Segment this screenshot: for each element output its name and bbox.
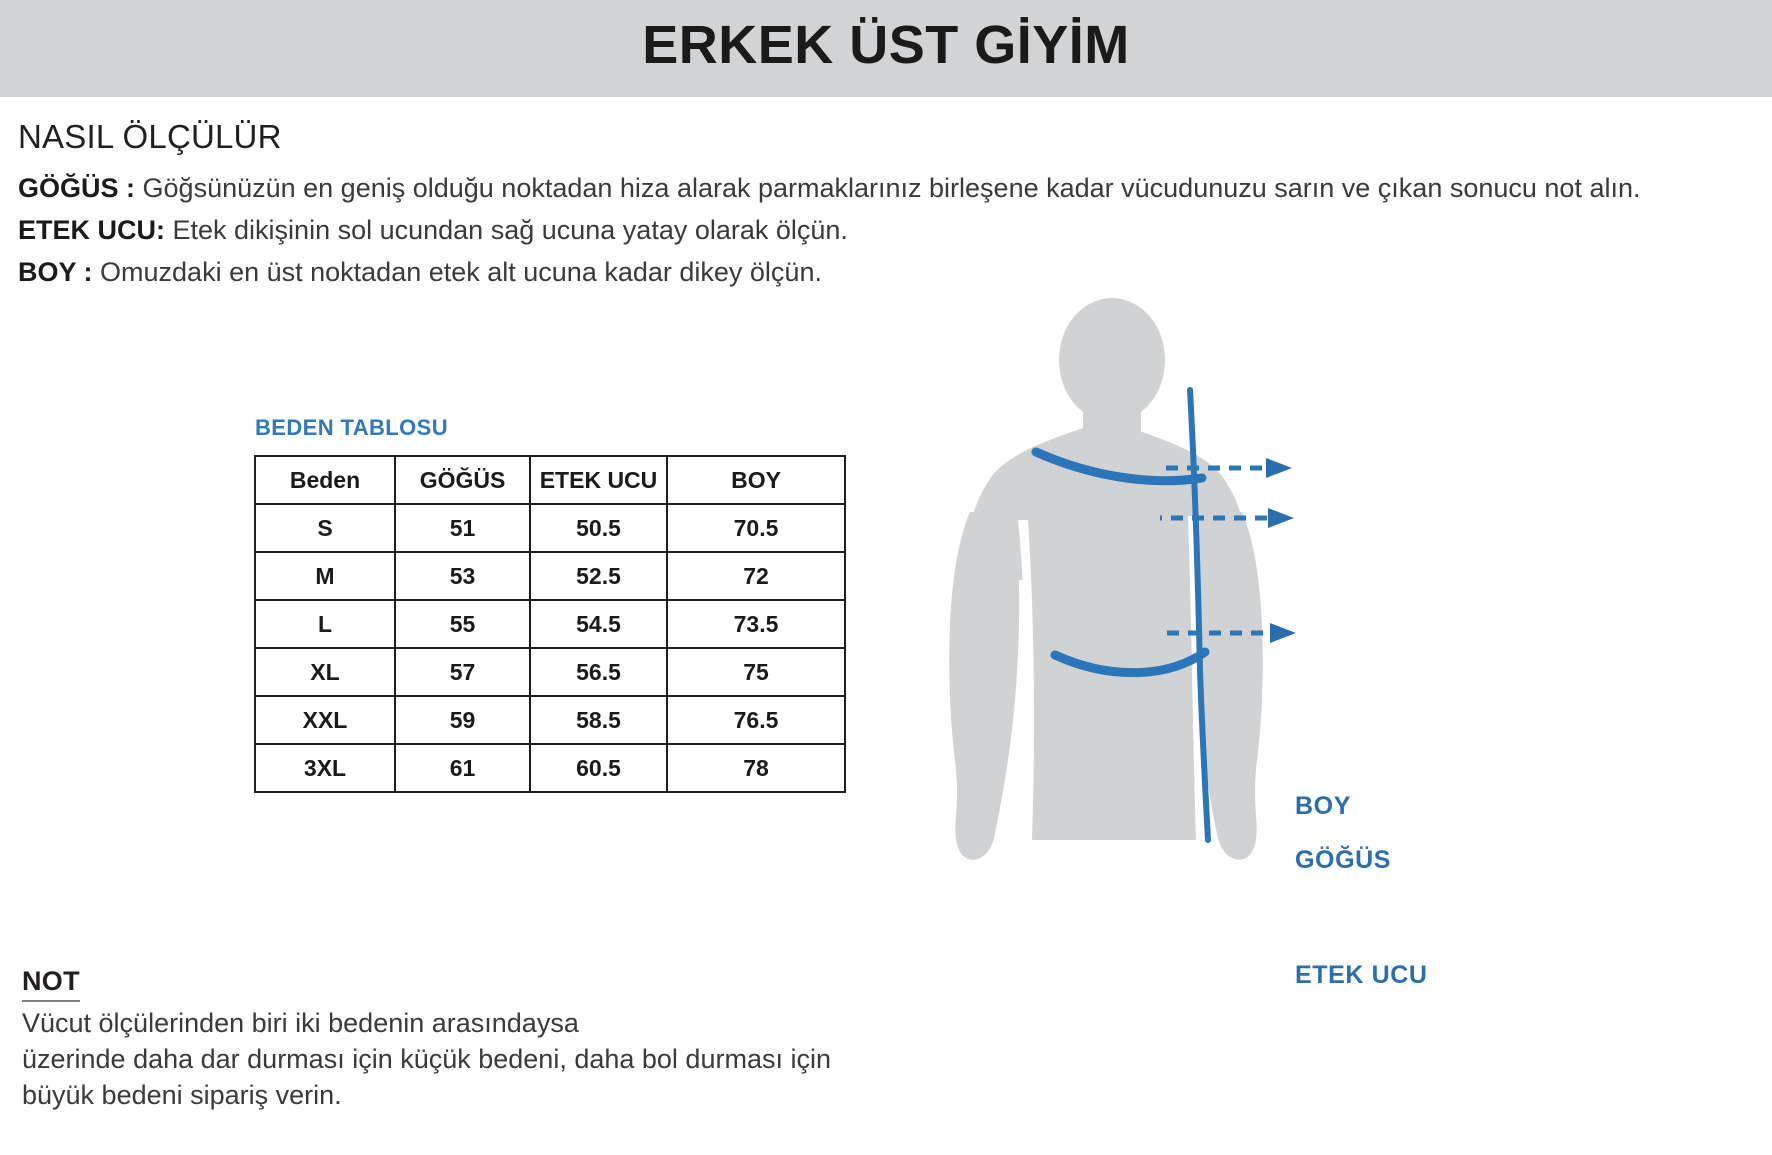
measurement-labels: BOY GÖĞÜS ETEK UCU	[1295, 280, 1715, 900]
table-row: S 51 50.5 70.5	[255, 504, 845, 552]
cell-etek-ucu: 58.5	[530, 696, 667, 744]
note-line: Vücut ölçülerinden biri iki bedenin aras…	[22, 1006, 1022, 1042]
cell-gogus: 57	[395, 648, 530, 696]
cell-boy: 76.5	[667, 696, 845, 744]
table-row: 3XL 61 60.5 78	[255, 744, 845, 792]
instruction-etek-ucu: ETEK UCU: Etek dikişinin sol ucundan sağ…	[18, 212, 1758, 248]
column-header-gogus: GÖĞÜS	[395, 456, 530, 504]
label-boy: BOY	[1295, 792, 1351, 821]
table-header-row: Beden GÖĞÜS ETEK UCU BOY	[255, 456, 845, 504]
cell-size: 3XL	[255, 744, 395, 792]
cell-etek-ucu: 60.5	[530, 744, 667, 792]
cell-size: XL	[255, 648, 395, 696]
cell-boy: 75	[667, 648, 845, 696]
table-row: L 55 54.5 73.5	[255, 600, 845, 648]
note-section: NOT Vücut ölçülerinden biri iki bedenin …	[22, 966, 1022, 1114]
column-header-boy: BOY	[667, 456, 845, 504]
instruction-etek-ucu-text: Etek dikişinin sol ucundan sağ ucuna yat…	[173, 215, 848, 245]
label-gogus: GÖĞÜS	[1295, 846, 1391, 875]
cell-gogus: 59	[395, 696, 530, 744]
instructions-section: NASIL ÖLÇÜLÜR GÖĞÜS : Göğsünüzün en geni…	[18, 118, 1758, 297]
column-header-etek-ucu: ETEK UCU	[530, 456, 667, 504]
cell-boy: 78	[667, 744, 845, 792]
header-band: ERKEK ÜST GİYİM	[0, 0, 1772, 97]
boy-arrow-icon	[1166, 458, 1292, 478]
cell-boy: 72	[667, 552, 845, 600]
size-table-head: Beden GÖĞÜS ETEK UCU BOY	[255, 456, 845, 504]
table-row: XL 57 56.5 75	[255, 648, 845, 696]
cell-boy: 73.5	[667, 600, 845, 648]
cell-etek-ucu: 50.5	[530, 504, 667, 552]
table-row: M 53 52.5 72	[255, 552, 845, 600]
instruction-gogus: GÖĞÜS : Göğsünüzün en geniş olduğu nokta…	[18, 170, 1758, 206]
table-row: XXL 59 58.5 76.5	[255, 696, 845, 744]
cell-gogus: 61	[395, 744, 530, 792]
cell-size: S	[255, 504, 395, 552]
note-title: NOT	[22, 966, 80, 1002]
etek-ucu-arrow-icon	[1160, 623, 1296, 643]
instruction-boy-label: BOY :	[18, 257, 93, 287]
cell-size: M	[255, 552, 395, 600]
column-header-beden: Beden	[255, 456, 395, 504]
how-to-measure-heading: NASIL ÖLÇÜLÜR	[18, 118, 1758, 156]
page-title: ERKEK ÜST GİYİM	[0, 0, 1772, 97]
cell-size: XXL	[255, 696, 395, 744]
cell-gogus: 55	[395, 600, 530, 648]
size-table: Beden GÖĞÜS ETEK UCU BOY S 51 50.5 70.5 …	[254, 455, 846, 793]
cell-etek-ucu: 52.5	[530, 552, 667, 600]
cell-etek-ucu: 54.5	[530, 600, 667, 648]
note-line: üzerinde daha dar durması için küçük bed…	[22, 1042, 1022, 1078]
cell-etek-ucu: 56.5	[530, 648, 667, 696]
cell-size: L	[255, 600, 395, 648]
instruction-gogus-text: Göğsünüzün en geniş olduğu noktadan hiza…	[143, 173, 1641, 203]
size-chart-section: BEDEN TABLOSU Beden GÖĞÜS ETEK UCU BOY S…	[254, 415, 846, 793]
instruction-gogus-label: GÖĞÜS :	[18, 173, 135, 203]
cell-gogus: 53	[395, 552, 530, 600]
instruction-boy-text: Omuzdaki en üst noktadan etek alt ucuna …	[100, 257, 822, 287]
size-chart-title: BEDEN TABLOSU	[255, 415, 846, 441]
instruction-etek-ucu-label: ETEK UCU:	[18, 215, 165, 245]
label-etek-ucu: ETEK UCU	[1295, 961, 1428, 990]
cell-gogus: 51	[395, 504, 530, 552]
gogus-arrow-icon	[1160, 508, 1294, 528]
note-line: büyük bedeni sipariş verin.	[22, 1078, 1022, 1114]
size-table-body: S 51 50.5 70.5 M 53 52.5 72 L 55 54.5 73…	[255, 504, 845, 792]
cell-boy: 70.5	[667, 504, 845, 552]
